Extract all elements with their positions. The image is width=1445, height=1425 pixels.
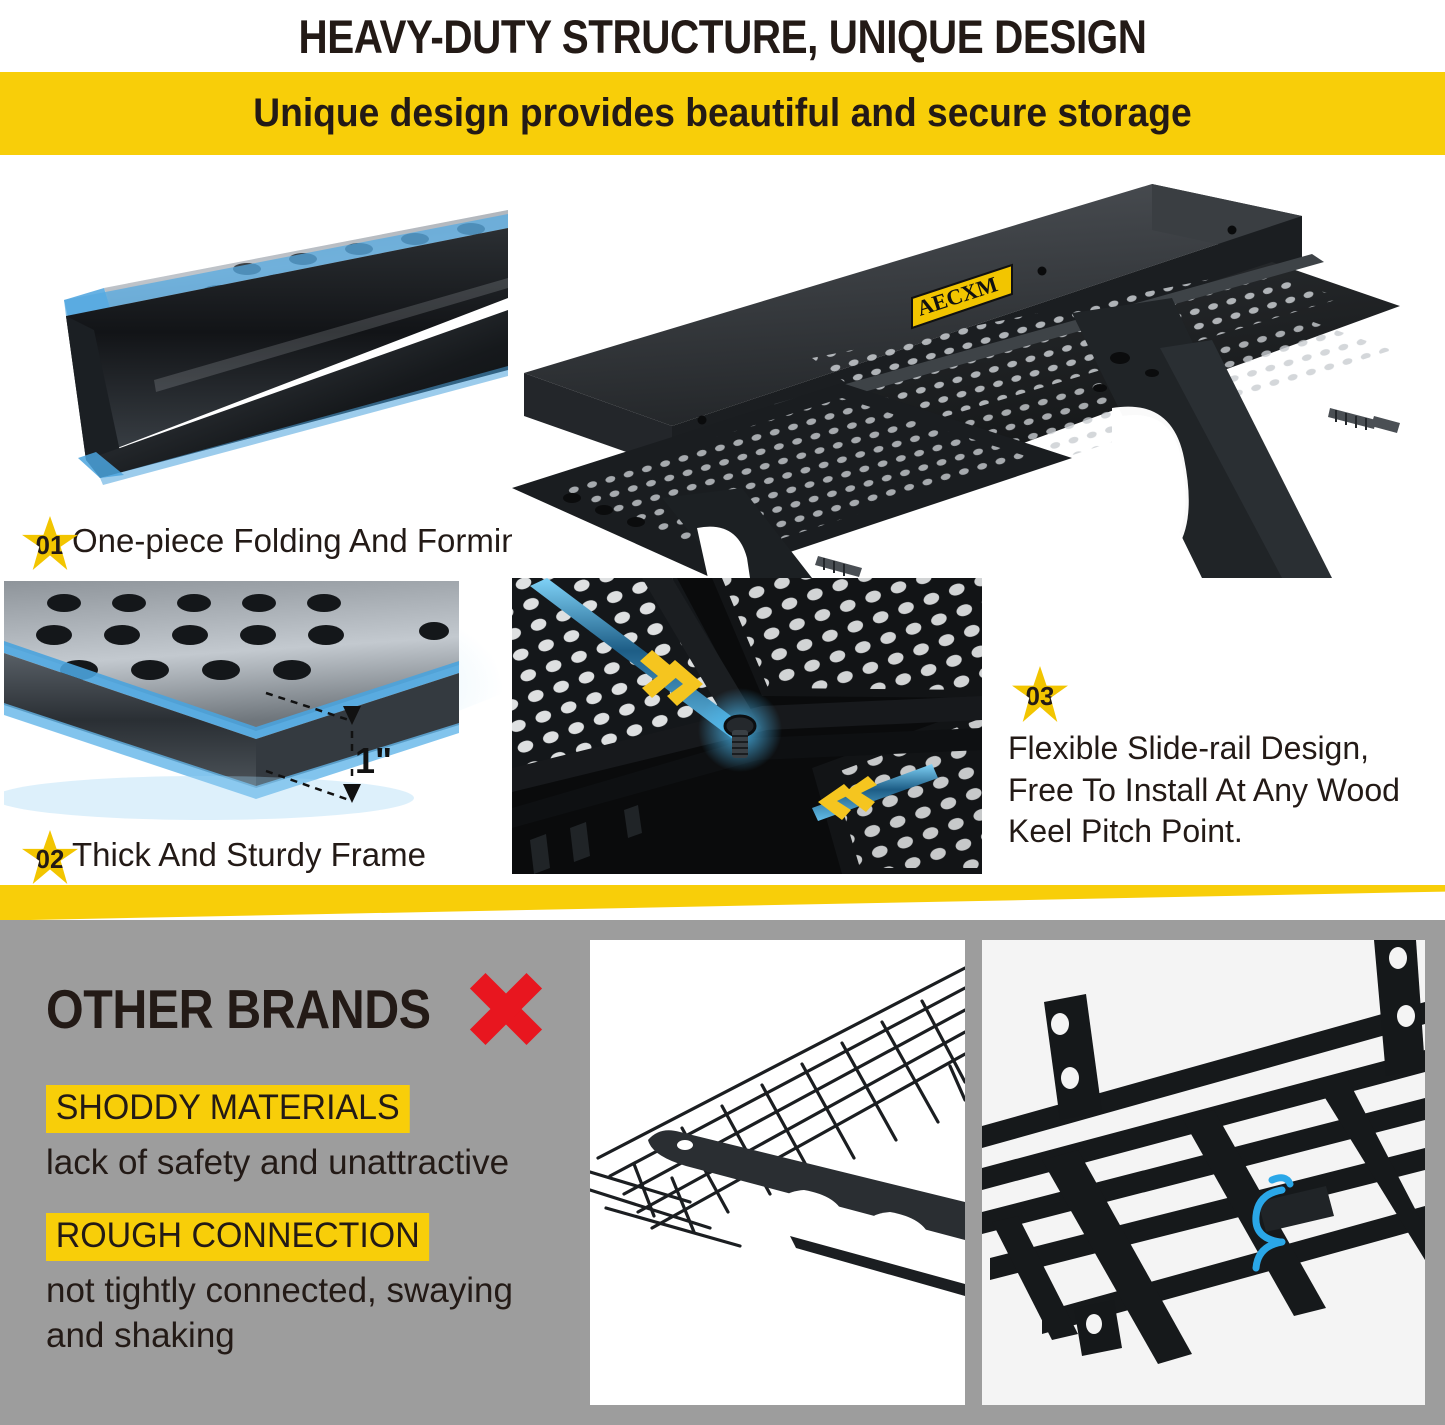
comparison-item-title: ROUGH CONNECTION [46, 1213, 429, 1261]
features-section: 01 One-piece Folding And Forming [0, 158, 1445, 888]
corner-frame-image: 1" [4, 573, 508, 848]
page-subtitle: Unique design provides beautiful and sec… [51, 72, 1395, 155]
other-brand-bar-rack-image [982, 940, 1425, 1405]
comparison-item-title: SHODDY MATERIALS [46, 1085, 409, 1133]
channel-profile-image [4, 170, 508, 515]
divider-band [0, 885, 1445, 921]
star-badge-icon: 03 [1012, 666, 1068, 722]
feature-number: 02 [36, 846, 65, 872]
star-badge-icon: 02 [22, 830, 78, 884]
other-brand-wire-rack-image [590, 940, 965, 1405]
comparison-item-description: not tightly connected, swaying and shaki… [46, 1269, 571, 1359]
feature-number: 03 [1026, 683, 1055, 709]
comparison-heading: OTHER BRANDS [46, 977, 431, 1041]
slide-rail-image [512, 578, 982, 874]
page-title: HEAVY-DUTY STRUCTURE, UNIQUE DESIGN [101, 0, 1344, 72]
comparison-heading-row: OTHER BRANDS [46, 970, 545, 1048]
comparison-item: SHODDY MATERIALS lack of safety and unat… [46, 1085, 566, 1186]
feature-03: 03 Flexible Slide-rail Design, Free To I… [1008, 666, 1438, 853]
comparison-item: ROUGH CONNECTION not tightly connected, … [46, 1213, 571, 1359]
product-infographic: HEAVY-DUTY STRUCTURE, UNIQUE DESIGN Uniq… [0, 0, 1445, 1425]
feature-label: Flexible Slide-rail Design, Free To Inst… [1008, 722, 1438, 853]
feature-02: 02 Thick And Sturdy Frame [22, 830, 426, 884]
hero-product-image: AECXM [512, 158, 1445, 578]
feature-number: 01 [36, 532, 65, 558]
red-x-icon [467, 970, 545, 1048]
dimension-value: 1" [355, 740, 392, 781]
feature-label: One-piece Folding And Forming [72, 516, 538, 560]
feature-label: Thick And Sturdy Frame [72, 830, 426, 874]
comparison-item-description: lack of safety and unattractive [46, 1141, 566, 1186]
feature-01: 01 One-piece Folding And Forming [22, 516, 538, 570]
comparison-section: OTHER BRANDS SHODDY MATERIALS lack of sa… [0, 920, 1445, 1425]
star-badge-icon: 01 [22, 516, 78, 570]
